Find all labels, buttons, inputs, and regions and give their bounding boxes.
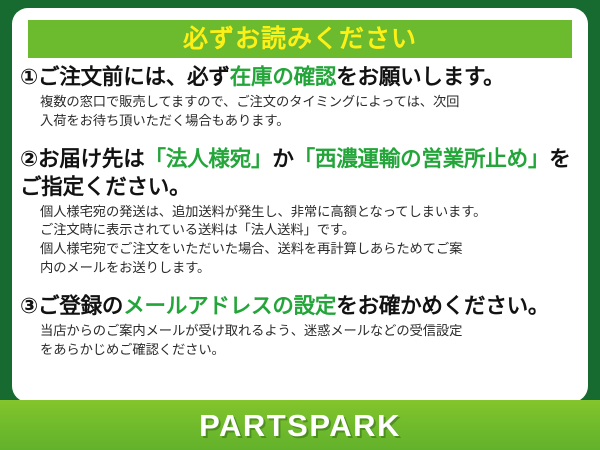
notice-heading-3: ③ご登録のメールアドレスの設定をお確かめください。: [20, 293, 578, 321]
notice-sub-2-line-1: 個人様宅宛の発送は、追加送料が発生し、非常に高額となってしまいます。: [40, 203, 578, 222]
notice-head-part-3a: ご登録の: [38, 294, 123, 318]
notice-sub-1: 複数の窓口で販売してますので、ご注文のタイミングによっては、次回 入荷をお待ち頂…: [40, 93, 578, 131]
footer-logo-band: PARTSPARK: [0, 400, 600, 450]
notice-marker-1: ①: [20, 65, 38, 89]
spacer-1: [20, 133, 578, 146]
notice-sub-2-line-2: ご注文時に表示されている送料は「法人送料」です。: [40, 221, 578, 240]
notice-sub-3-line-2: をあらかじめご確認ください。: [40, 341, 578, 360]
spacer-2: [20, 280, 578, 293]
notice-head-highlight-3: メールアドレスの設定: [123, 294, 336, 318]
notice-head-highlight-2b: 「西濃運輸の営業所止め」: [294, 147, 550, 171]
notice-sub-2-line-3: 個人様宅宛でご注文をいただいた場合、送料を再計算しあらためてご案: [40, 240, 578, 259]
notice-item-3: ③ご登録のメールアドレスの設定をお確かめください。 当店からのご案内メールが受け…: [20, 293, 578, 360]
notice-head-part-2b: か: [272, 147, 293, 171]
notice-sub-1-line-1: 複数の窓口で販売してますので、ご注文のタイミングによっては、次回: [40, 93, 578, 112]
title-banner: 必ずお読みください: [28, 20, 572, 58]
notice-head-part-2a: お届け先は: [38, 147, 145, 171]
notice-head-highlight-2a: 「法人様宛」: [145, 147, 273, 171]
notice-head-part-3b: をお確かめください。: [336, 294, 549, 318]
notice-list: ①ご注文前には、必ず在庫の確認をお願いします。 複数の窓口で販売してますので、ご…: [12, 64, 588, 362]
notice-sub-3: 当店からのご案内メールが受け取れるよう、迷惑メールなどの受信設定 をあらかじめご…: [40, 322, 578, 360]
page-title: 必ずお読みください: [183, 27, 417, 52]
notice-marker-3: ③: [20, 294, 38, 318]
notice-head-part-1a: ご注文前には、必ず: [38, 65, 230, 89]
notice-item-2: ②お届け先は「法人様宛」か「西濃運輸の営業所止め」をご指定ください。 個人様宅宛…: [20, 146, 578, 278]
notice-head-highlight-1: 在庫の確認: [230, 65, 337, 89]
notice-sub-1-line-2: 入荷をお待ち頂いただく場合もあります。: [40, 112, 578, 131]
notice-banner: 必ずお読みください ①ご注文前には、必ず在庫の確認をお願いします。 複数の窓口で…: [0, 0, 600, 450]
notice-heading-2: ②お届け先は「法人様宛」か「西濃運輸の営業所止め」をご指定ください。: [20, 146, 578, 202]
notice-sub-3-line-1: 当店からのご案内メールが受け取れるよう、迷惑メールなどの受信設定: [40, 322, 578, 341]
notice-head-part-1b: をお願いします。: [336, 65, 504, 89]
notice-sub-2-line-4: 内のメールをお送りします。: [40, 259, 578, 278]
notice-sub-2: 個人様宅宛の発送は、追加送料が発生し、非常に高額となってしまいます。 ご注文時に…: [40, 203, 578, 279]
notice-item-1: ①ご注文前には、必ず在庫の確認をお願いします。 複数の窓口で販売してますので、ご…: [20, 64, 578, 131]
content-panel: 必ずお読みください ①ご注文前には、必ず在庫の確認をお願いします。 複数の窓口で…: [12, 8, 588, 402]
notice-heading-1: ①ご注文前には、必ず在庫の確認をお願いします。: [20, 64, 578, 92]
notice-marker-2: ②: [20, 147, 38, 171]
brand-logo: PARTSPARK: [199, 410, 401, 441]
